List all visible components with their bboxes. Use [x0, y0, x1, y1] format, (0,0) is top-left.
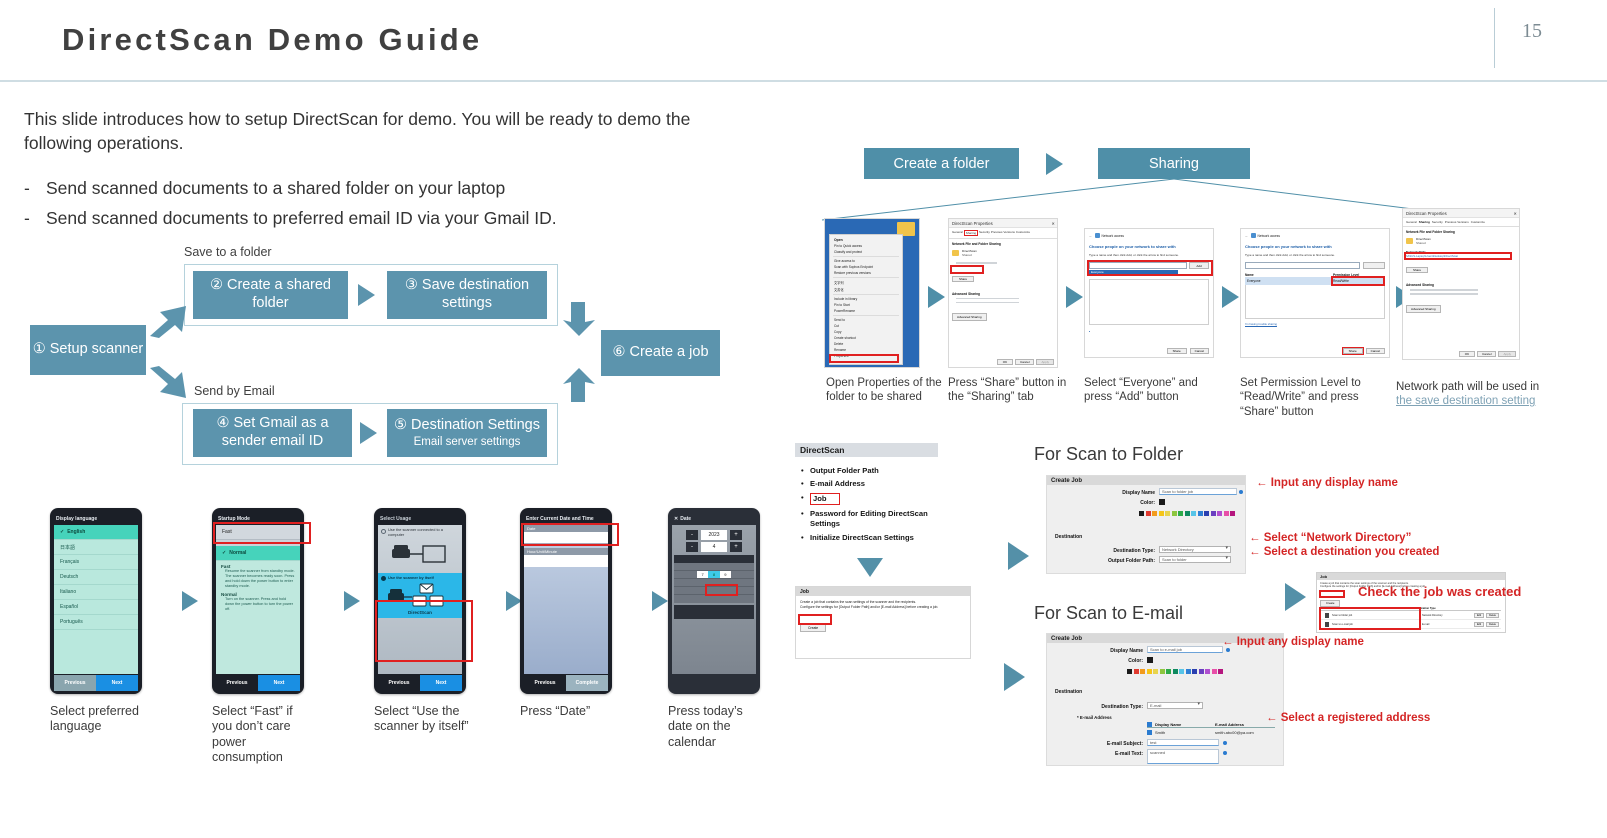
advanced-sharing-button[interactable]: Advanced Sharing: [952, 313, 987, 321]
share-button[interactable]: Share: [952, 276, 974, 282]
swatch-navy[interactable]: [1204, 511, 1209, 516]
elbow-arrow-down-right-icon: [563, 300, 609, 338]
phone-button-bar: Previous Complete: [524, 675, 608, 691]
row-name-everyone: Everyone: [1245, 279, 1333, 283]
highlight-box-create: [798, 614, 832, 625]
menu-item-output-folder[interactable]: • Output Folder Path: [801, 466, 935, 475]
add-button[interactable]: [1363, 262, 1385, 269]
phone-screen-title: ✕ Date: [674, 513, 754, 525]
highlight-box-job-rows: [1319, 607, 1421, 630]
language-row-german[interactable]: Deutsch: [54, 570, 138, 585]
folder-icon: [952, 250, 959, 256]
row-email-address: smith.abc00@pa.com: [1215, 730, 1275, 735]
delete-button[interactable]: Delete: [1486, 622, 1499, 627]
tab-security[interactable]: Security: [979, 230, 990, 236]
language-row-italian[interactable]: Italiano: [54, 585, 138, 600]
folder-sharing-flow: Create a folder Sharing Open Pin to Quic…: [800, 130, 1607, 415]
bullet-text: Send scanned documents to a shared folde…: [46, 178, 505, 199]
bullet-icon: •: [801, 533, 810, 542]
language-row-english[interactable]: ✓ English: [54, 525, 138, 540]
dialog-buttons[interactable]: Share Cancel: [1167, 348, 1209, 354]
phone-screen: - 2023 + - 4 + 7: [672, 525, 756, 674]
color-palette[interactable]: [1127, 669, 1223, 674]
dialog-buttons[interactable]: OK Cancel Apply: [1459, 351, 1516, 357]
tab-bar[interactable]: General Sharing Security Previous Versio…: [949, 228, 1057, 239]
swatch-red[interactable]: [1146, 511, 1151, 516]
highlight-box-standalone: [375, 600, 473, 662]
elbow-arrow-down-icon: [148, 366, 194, 404]
flow-box-create-shared-folder[interactable]: ② Create a shared folder: [193, 271, 348, 319]
menu-divider: [833, 315, 899, 316]
annotation-registered-address: ← Select a registered address: [1266, 712, 1430, 724]
label-display-name: Display Name: [1099, 490, 1155, 496]
swatch-blue[interactable]: [1186, 669, 1191, 674]
scanner-to-pc-icon: [390, 541, 450, 567]
usage-option-standalone[interactable]: Use the scanner by itself: [381, 576, 459, 582]
apply-button[interactable]: Apply: [1498, 351, 1516, 357]
phone-screen: ✓ English 日本語 Français Deutsch Italiano …: [54, 525, 138, 674]
ok-button[interactable]: OK: [1459, 351, 1475, 357]
previous-button[interactable]: Previous: [378, 675, 420, 691]
previous-button[interactable]: Previous: [54, 675, 96, 691]
create-job-form-folder: Create Job Display Name Scan to folder j…: [1046, 475, 1246, 574]
window-title: Network access: [1258, 234, 1281, 238]
bullet-icon: •: [801, 466, 810, 475]
label-destination-type: Destination Type:: [1077, 704, 1143, 710]
tab-bar[interactable]: General Sharing Security Previous Versio…: [1403, 218, 1519, 227]
bullet-icon: •: [801, 493, 810, 504]
section-network-sharing: Network File and Folder Sharing: [1406, 230, 1516, 234]
swatch-violet[interactable]: [1211, 511, 1216, 516]
month-increment-button[interactable]: +: [730, 542, 742, 552]
swatch-blue[interactable]: [1198, 511, 1203, 516]
tab-general[interactable]: General: [1406, 220, 1417, 224]
bullet-icon: •: [801, 479, 810, 488]
arrow-icon: [1046, 153, 1063, 175]
cancel-button[interactable]: Cancel: [1190, 348, 1209, 354]
swatch-lime[interactable]: [1160, 669, 1165, 674]
screenshot-properties-sharing: DirectScan Properties ✕ General Sharing …: [948, 218, 1058, 368]
checkbox-row[interactable]: [1147, 730, 1152, 735]
table-row[interactable]: Smith smith.abc00@pa.com: [1147, 730, 1275, 735]
menu-item-job[interactable]: • Job: [801, 493, 935, 504]
create-button[interactable]: Create: [800, 624, 826, 632]
email-text-input[interactable]: scanned: [1147, 749, 1219, 764]
swatch-orange[interactable]: [1152, 511, 1157, 516]
menu-divider: [833, 277, 899, 278]
arrow-icon: [928, 286, 945, 308]
trouble-sharing-link[interactable]: [1089, 327, 1209, 331]
step-caption: Select “Use the scanner by itself”: [374, 704, 474, 735]
job-panel: Job Create a job that contains the scan …: [795, 586, 971, 659]
output-folder-path-select[interactable]: Scan to folder: [1159, 556, 1231, 563]
job-panel-title: Job: [796, 587, 970, 596]
calendar-week-row: [674, 595, 754, 603]
complete-button[interactable]: Complete: [566, 675, 608, 691]
language-row-spanish[interactable]: Español: [54, 600, 138, 615]
swatch-yellow[interactable]: [1165, 511, 1170, 516]
swatch-black[interactable]: [1139, 511, 1144, 516]
bullet-dash: -: [24, 208, 46, 229]
tab-sharing[interactable]: Sharing: [1419, 220, 1430, 224]
menu-item[interactable]: Restore previous versions: [830, 270, 902, 276]
page-title: DirectScan Demo Guide: [62, 22, 482, 58]
flow-box-gmail-sender[interactable]: ④ Set Gmail as a sender email ID: [193, 409, 352, 457]
year-value: 2023: [701, 530, 727, 540]
color-palette[interactable]: [1139, 511, 1235, 516]
job-type: Network Directory: [1422, 614, 1474, 617]
swatch-red[interactable]: [1134, 669, 1139, 674]
label-color: Color:: [1087, 658, 1143, 664]
cancel-button[interactable]: Cancel: [1477, 351, 1496, 357]
list-item: - Send scanned documents to a shared fol…: [24, 178, 744, 199]
elbow-arrow-up-right-icon: [563, 366, 609, 404]
language-row-portuguese[interactable]: Português: [54, 615, 138, 630]
desc-body-normal: Turn on the scanner. Press and hold down…: [221, 597, 295, 612]
swatch-navy[interactable]: [1192, 669, 1197, 674]
year-stepper[interactable]: - 2023 +: [672, 530, 756, 540]
back-icon[interactable]: ←: [1089, 234, 1093, 238]
flow-box-destination-settings[interactable]: ⑤ Destination Settings Email server sett…: [387, 409, 547, 457]
shot-caption-5-link[interactable]: the save destination setting: [1396, 395, 1535, 407]
header-divider: [0, 80, 1607, 82]
step-caption: Select preferred language: [50, 704, 150, 735]
section-advanced-sharing: Advanced Sharing: [1406, 283, 1516, 287]
startup-row-normal[interactable]: ✓ Normal: [216, 546, 300, 561]
year-decrement-button[interactable]: -: [686, 530, 698, 540]
step-caption: Select “Fast” if you don’t care power co…: [212, 704, 312, 765]
cancel-button[interactable]: Cancel: [1015, 359, 1034, 365]
label-email-text: E-mail Text:: [1077, 751, 1143, 757]
section-network-sharing: Network File and Folder Sharing: [952, 242, 1054, 246]
highlight-box-today: [705, 584, 738, 596]
tab-customize[interactable]: Customize: [1471, 220, 1485, 224]
label-destination: Destination: [1055, 534, 1082, 540]
directscan-menu-title: DirectScan: [795, 443, 938, 457]
phone-step-date-time: Enter Current Date and Time Date Hour/Un…: [520, 508, 612, 694]
window-title: DirectScan Properties ✕: [1403, 209, 1519, 218]
calendar-week-row: 7 8 9: [674, 571, 754, 579]
close-icon[interactable]: ✕: [1513, 211, 1517, 216]
dialog-subtext: Type a name and then click Add, or click…: [1245, 253, 1385, 257]
highlight-box-create: [1319, 590, 1345, 598]
calendar-footer: [674, 605, 754, 619]
tab-previous-versions[interactable]: Previous Versions: [1445, 220, 1469, 224]
phone-step-select-usage: Select Usage Use the scanner connected t…: [374, 508, 466, 694]
label-destination-type: Destination Type:: [1087, 548, 1155, 554]
menu-item-password[interactable]: • Password for Editing DirectScan Settin…: [801, 509, 935, 528]
tab-security[interactable]: Security: [1432, 220, 1443, 224]
edit-button[interactable]: Edit: [1474, 613, 1484, 618]
language-row-french[interactable]: Français: [54, 555, 138, 570]
dialog-heading: Choose people on your network to share w…: [1245, 244, 1385, 249]
folder-state: Shared: [1416, 241, 1431, 245]
job-column-type: Destination Type: [1415, 607, 1467, 610]
help-icon[interactable]: [1239, 490, 1243, 494]
intro-block: This slide introduces how to setup Direc…: [24, 108, 744, 229]
destination-type-select[interactable]: E-mail: [1147, 702, 1203, 709]
phone-frame: Display language ✓ English 日本語 Français …: [50, 508, 142, 694]
swatch-amber[interactable]: [1147, 669, 1152, 674]
create-job-form-email: Create Job Display Name Scan to e-mail j…: [1046, 633, 1284, 766]
swatch-black[interactable]: [1127, 669, 1132, 674]
arrow-icon: [1008, 542, 1029, 570]
next-button[interactable]: Next: [420, 675, 462, 691]
display-name-input[interactable]: Scan to folder job: [1159, 488, 1237, 495]
highlight-box-network-path: [1404, 252, 1512, 260]
step-caption: Press “Date”: [520, 704, 620, 719]
desc-body-fast: Resume the scanner from standby mode. Th…: [221, 569, 295, 590]
month-decrement-button[interactable]: -: [686, 542, 698, 552]
name-combobox[interactable]: [1245, 262, 1360, 269]
share-list: [1089, 279, 1209, 325]
section-advanced-sharing: Advanced Sharing: [952, 292, 1054, 296]
label-display-name: Display Name: [1077, 648, 1143, 654]
menu-item[interactable]: PowerRename: [830, 308, 902, 314]
annotation-input-display-name-folder: ← Input any display name: [1256, 477, 1398, 489]
bullet-text: Send scanned documents to preferred emai…: [46, 208, 557, 229]
email-address-table: Display Name E-mail Address Smith smith.…: [1147, 722, 1275, 735]
highlight-box-add-everyone: [1087, 260, 1213, 276]
swatch-amber[interactable]: [1159, 511, 1164, 516]
label-email-subject: E-mail Subject:: [1077, 741, 1143, 747]
usage-option-computer[interactable]: Use the scanner connected to a computer: [381, 528, 459, 538]
page-number: 15: [1522, 20, 1542, 43]
annotation-select-destination: ← Select a destination you created: [1249, 546, 1439, 558]
arrow-icon: [358, 284, 375, 306]
directscan-menu: DirectScan • Output Folder Path • E-mail…: [795, 443, 938, 542]
phone-button-bar: Previous Next: [378, 675, 462, 691]
calendar-day-selected[interactable]: 8: [708, 571, 719, 578]
calendar-day[interactable]: 9: [720, 571, 731, 578]
edit-button[interactable]: Edit: [1474, 622, 1484, 627]
screenshot-network-access-add: ← Network access Choose people on your n…: [1084, 228, 1214, 358]
slide-root: DirectScan Demo Guide 15 This slide intr…: [0, 0, 1607, 838]
phone-button-bar: Previous Next: [54, 675, 138, 691]
time-input[interactable]: [524, 555, 608, 567]
swatch-pink[interactable]: [1212, 669, 1217, 674]
section-title-scan-to-folder: For Scan to Folder: [1034, 444, 1183, 465]
swatch-yellow[interactable]: [1153, 669, 1158, 674]
highlight-box-share-button: [950, 265, 984, 274]
shot-caption-3: Select “Everyone” and press “Add” button: [1084, 376, 1219, 405]
swatch-cyan[interactable]: [1191, 511, 1196, 516]
help-icon[interactable]: [1223, 751, 1227, 755]
delete-button[interactable]: Delete: [1486, 613, 1499, 618]
section-title-scan-to-email: For Scan to E-mail: [1034, 603, 1183, 624]
checkbox-all[interactable]: [1147, 722, 1152, 727]
flow-box-save-destination[interactable]: ③ Save destination settings: [387, 271, 547, 319]
screenshot-context-menu: Open Pin to Quick access Classify and pr…: [824, 218, 920, 368]
selected-color-swatch[interactable]: [1159, 499, 1165, 505]
share-button[interactable]: Share: [1167, 348, 1187, 354]
menu-item-email-address[interactable]: • E-mail Address: [801, 479, 935, 488]
window-title: DirectScan Properties ✕: [949, 219, 1057, 228]
next-button[interactable]: Next: [96, 675, 138, 691]
network-icon: [1251, 233, 1256, 238]
phone-screen-title: Display language: [56, 513, 136, 525]
swatch-teal[interactable]: [1173, 669, 1178, 674]
menu-item-initialize[interactable]: • Initialize DirectScan Settings: [801, 533, 935, 542]
row-display-name: Smith: [1155, 730, 1215, 735]
flow-box-create-folder[interactable]: Create a folder: [864, 148, 1019, 179]
screenshot-permission-level: ← Network access Choose people on your n…: [1240, 228, 1390, 358]
swatch-orange[interactable]: [1140, 669, 1145, 674]
flow-box-destination-settings-sub: Email server settings: [414, 435, 521, 449]
arrow-down-icon: [857, 558, 883, 577]
network-icon: [1095, 233, 1100, 238]
bullet-icon: •: [801, 509, 810, 528]
swatch-pink[interactable]: [1224, 511, 1229, 516]
context-menu[interactable]: Open Pin to Quick access Classify and pr…: [829, 234, 903, 365]
phone-screen-title: Select Usage: [380, 513, 460, 525]
flow-box-sharing[interactable]: Sharing: [1098, 148, 1250, 179]
shot-caption-2: Press “Share” button in the “Sharing” ta…: [948, 376, 1068, 405]
help-icon[interactable]: [1226, 648, 1230, 652]
share-button[interactable]: Share: [1343, 348, 1363, 354]
help-icon[interactable]: [1223, 741, 1227, 745]
cancel-button[interactable]: Cancel: [1366, 348, 1385, 354]
arrow-icon: [360, 422, 377, 444]
create-button[interactable]: Create: [1320, 600, 1340, 607]
swatch-cyan[interactable]: [1179, 669, 1184, 674]
tab-previous-versions[interactable]: Previous Versions: [991, 230, 1015, 236]
job-type: E-mail: [1422, 623, 1474, 626]
highlight-box-fast: [213, 522, 311, 544]
dialog-subtext: Type a name and then click Add, or click…: [1089, 253, 1209, 257]
folder-state: Shared: [962, 253, 977, 257]
swatch-purple[interactable]: [1217, 511, 1222, 516]
menu-divider: [833, 256, 899, 257]
month-stepper[interactable]: - 4 +: [672, 542, 756, 552]
label-destination: Destination: [1055, 689, 1082, 695]
permission-list: [1245, 285, 1385, 319]
window-title: Network access: [1102, 234, 1125, 238]
label-output-folder-path: Output Folder Path:: [1087, 558, 1155, 564]
next-button[interactable]: Next: [258, 675, 300, 691]
swatch-magenta[interactable]: [1218, 669, 1223, 674]
tab-sharing[interactable]: Sharing: [964, 230, 978, 236]
scanner-setup-phone-steps: Display language ✓ English 日本語 Français …: [40, 508, 800, 778]
annotation-job-created: Check the job was created: [1358, 584, 1521, 599]
intro-paragraph: This slide introduces how to setup Direc…: [24, 108, 744, 155]
phone-step-startup-mode: Startup Mode Fast ✓ Normal Fast Resume t…: [212, 508, 304, 694]
arrow-icon: [344, 591, 360, 611]
highlight-box-date-field: [521, 523, 619, 546]
tab-customize[interactable]: Customize: [1016, 230, 1030, 236]
share-button[interactable]: Share: [1406, 267, 1428, 273]
flow-box-destination-settings-label: ⑤ Destination Settings: [394, 417, 540, 435]
form-title: Create Job: [1047, 476, 1245, 485]
radio-icon: [381, 529, 386, 534]
annotation-network-directory: ← Select “Network Directory”: [1249, 532, 1411, 544]
highlight-box-permission: [1331, 276, 1385, 286]
field-label-time: Hour/Unit/Minute: [524, 548, 608, 555]
phone-button-bar: Previous Next: [216, 675, 300, 691]
selected-color-swatch[interactable]: [1147, 657, 1153, 663]
radio-selected-icon: [381, 576, 386, 581]
page-number-divider: [1494, 8, 1495, 68]
shot-caption-1: Open Properties of the folder to be shar…: [826, 376, 946, 405]
apply-button[interactable]: Apply: [1036, 359, 1054, 365]
arrow-icon: [1004, 663, 1025, 691]
year-increment-button[interactable]: +: [730, 530, 742, 540]
setup-flow-diagram: Save to a folder Send by Email ① Setup s…: [0, 240, 760, 470]
job-panel-title: Job: [1317, 573, 1505, 580]
phone-screen: Date Hour/Unit/Minute: [524, 525, 608, 674]
swatch-magenta[interactable]: [1230, 511, 1235, 516]
phone-screen: Fast ✓ Normal Fast Resume the scanner fr…: [216, 525, 300, 674]
flow-box-create-job[interactable]: ⑥ Create a job: [601, 330, 720, 376]
ok-button[interactable]: OK: [997, 359, 1013, 365]
tab-general[interactable]: General: [952, 230, 963, 236]
previous-button[interactable]: Previous: [524, 675, 566, 691]
group-label-save-to-folder: Save to a folder: [184, 245, 272, 259]
job-created-panel: Job Create a job that contains the scan …: [1316, 572, 1506, 633]
swatch-teal[interactable]: [1185, 511, 1190, 516]
calendar-weekday-header: [674, 555, 754, 563]
swatch-green[interactable]: [1178, 511, 1183, 516]
display-name-input[interactable]: Scan to e-mail job: [1147, 646, 1223, 653]
swatch-purple[interactable]: [1205, 669, 1210, 674]
shot-caption-5-line1: Network path will be used in: [1396, 381, 1539, 393]
calendar-day[interactable]: 7: [697, 571, 708, 578]
arrow-icon: [1066, 286, 1083, 308]
advanced-sharing-button[interactable]: Advanced Sharing: [1406, 305, 1441, 313]
menu-item[interactable]: 文字列: [830, 279, 902, 286]
step-caption: Press today’s date on the calendar: [668, 704, 768, 750]
group-label-send-by-email: Send by Email: [194, 384, 275, 398]
trouble-sharing-link[interactable]: I'm having trouble sharing: [1245, 322, 1385, 326]
folder-icon: [1406, 238, 1413, 244]
destination-type-select[interactable]: Network Directory: [1159, 546, 1231, 553]
shot-caption-5: Network path will be used in the save de…: [1396, 380, 1546, 409]
menu-divider: [833, 294, 899, 295]
dialog-buttons[interactable]: OK Cancel Apply: [997, 359, 1054, 365]
shot-caption-4: Set Permission Level to “Read/Write” and…: [1240, 376, 1390, 419]
column-header-display-name: Display Name: [1155, 722, 1215, 727]
label-color: Color:: [1109, 500, 1155, 506]
list-item: - Send scanned documents to preferred em…: [24, 208, 744, 229]
screenshot-network-path: DirectScan Properties ✕ General Sharing …: [1402, 208, 1520, 360]
label-email-address: * E-mail Address: [1077, 715, 1112, 720]
phone-step-display-language: Display language ✓ English 日本語 Français …: [50, 508, 142, 694]
menu-item[interactable]: Classify and protect: [830, 249, 902, 255]
arrow-icon: [1222, 286, 1239, 308]
elbow-arrow-up-icon: [148, 300, 194, 338]
close-icon[interactable]: ✕: [1051, 221, 1055, 226]
table-row[interactable]: Everyone Read/Write: [1245, 277, 1385, 285]
flow-box-setup-scanner[interactable]: ① Setup scanner: [30, 325, 146, 375]
menu-item[interactable]: 文書化: [830, 286, 902, 293]
arrow-icon: [652, 591, 668, 611]
phone-step-calendar: ✕ Date - 2023 + - 4 +: [668, 508, 760, 694]
swatch-violet[interactable]: [1199, 669, 1204, 674]
slide-header: DirectScan Demo Guide 15: [0, 0, 1607, 82]
bullet-dash: -: [24, 178, 46, 199]
swatch-lime[interactable]: [1172, 511, 1177, 516]
language-row-japanese[interactable]: 日本語: [54, 540, 138, 555]
calendar-week-row: [674, 563, 754, 571]
swatch-green[interactable]: [1166, 669, 1171, 674]
email-subject-input[interactable]: test: [1147, 739, 1219, 746]
back-icon[interactable]: ←: [1245, 234, 1249, 238]
annotation-input-display-name-email: ← Input any display name: [1222, 636, 1364, 648]
previous-button[interactable]: Previous: [216, 675, 258, 691]
phone-frame: ✕ Date - 2023 + - 4 +: [668, 508, 760, 694]
dialog-buttons[interactable]: Share Cancel: [1343, 348, 1385, 354]
calendar-grid[interactable]: 7 8 9: [674, 563, 754, 603]
